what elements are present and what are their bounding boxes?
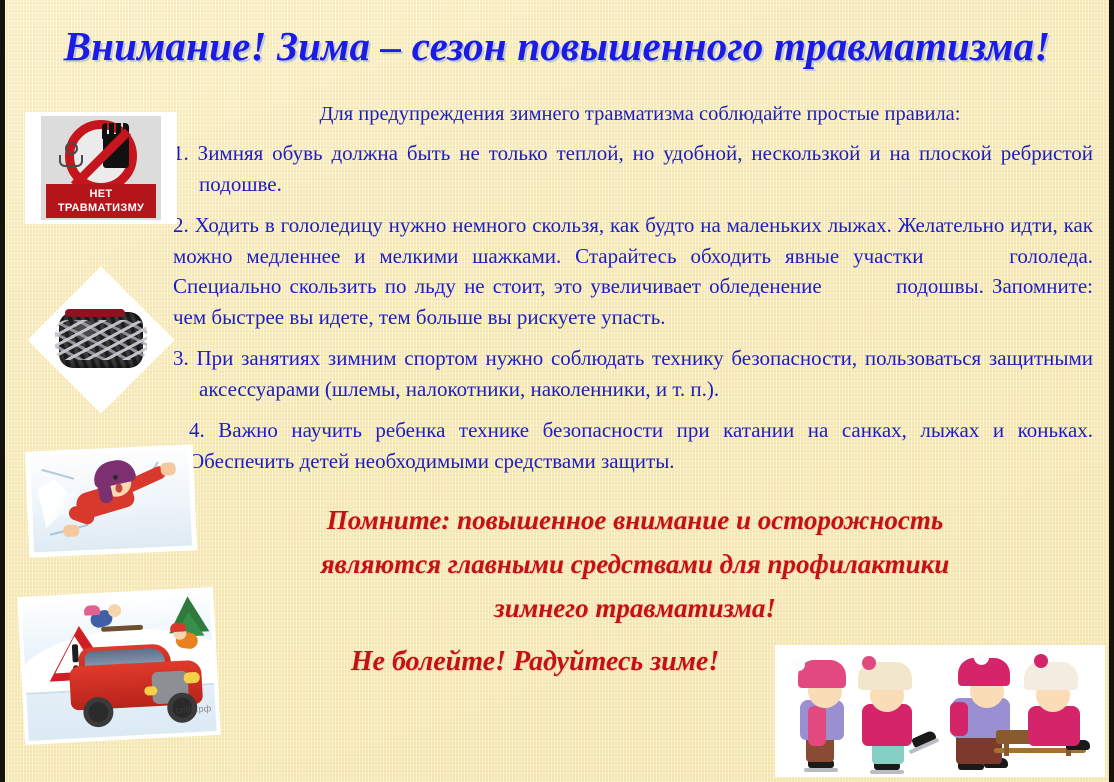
closing-line-2: являются главными средствами для профила… — [185, 542, 1085, 586]
child-hand — [160, 462, 176, 476]
child-1-scarf — [808, 706, 826, 746]
child-4-coat — [1028, 706, 1080, 746]
car-photo-watermark: сп96.рф — [175, 703, 211, 715]
child-3-scarf — [950, 702, 968, 736]
text-content-column: Для предупреждения зимнего травматизма с… — [173, 100, 1093, 487]
rule-1-text: Зимняя обувь должна быть не только тепло… — [198, 141, 1093, 196]
child-4-hat — [1024, 662, 1078, 690]
winter-children-scene — [778, 648, 1102, 774]
snow-chains-photo — [27, 266, 174, 413]
child-1-pompom — [792, 658, 805, 671]
closing-line-1: Помните: повышенное внимание и осторожно… — [185, 498, 1085, 542]
rule-4-number: 4. — [189, 418, 205, 442]
sign-label-line-1: НЕТ — [46, 187, 156, 201]
slipping-child-scene — [30, 450, 192, 553]
child-3-pompom — [974, 650, 989, 665]
sign-label-line-2: ТРАВМАТИЗМУ — [46, 201, 156, 215]
rule-3-number: 3. — [173, 346, 189, 370]
car-headlight — [183, 672, 200, 684]
rule-item-2: 2. Ходить в гололедицу нужно немного ско… — [173, 210, 1093, 332]
rule-item-3: 3. При занятиях зимним спортом нужно соб… — [173, 343, 1093, 404]
rule-3-text: При занятиях зимним спортом нужно соблюд… — [196, 346, 1093, 401]
title-band: Внимание! Зима – сезон повышенного травм… — [5, 22, 1109, 70]
car-foglight — [144, 686, 157, 696]
ice-streak-icon — [41, 469, 74, 480]
person-icon — [57, 142, 87, 168]
intro-text: Для предупреждения зимнего травматизма с… — [173, 100, 1093, 128]
person-body-icon — [59, 155, 83, 167]
prohibition-sign-photo: http://fil...s.tiu.ru НЕТ ТРАВМАТИЗМУ — [25, 112, 177, 224]
car-sledding-warning-photo: сп96.рф — [17, 587, 220, 745]
child-4-pompom — [1034, 654, 1048, 668]
child-2-skate-blade — [870, 770, 904, 774]
closing-line-3: зимнего травматизма! — [185, 586, 1085, 630]
rule-item-1: 1. Зимняя обувь должна быть не только те… — [173, 138, 1093, 199]
sled-leg-left — [1004, 744, 1009, 756]
sign-label: НЕТ ТРАВМАТИЗМУ — [46, 184, 156, 218]
winter-safety-poster: Внимание! Зима – сезон повышенного травм… — [0, 0, 1114, 782]
rule-2-text-a: Ходить в гололедицу нужно немного скольз… — [173, 213, 1093, 268]
person-head-icon — [65, 142, 78, 155]
snow-chains-scene — [49, 288, 153, 392]
child-1-hat — [798, 660, 846, 688]
rule-4-text: Важно научить ребенка технике безопаснос… — [189, 418, 1093, 473]
rule-item-4: 4. Важно научить ребенка технике безопас… — [173, 415, 1093, 476]
chain-grip-icon — [59, 312, 143, 368]
slipping-child-photo — [25, 444, 197, 557]
car-rear-wheel — [83, 696, 115, 728]
car-sledding-scene: сп96.рф — [21, 591, 216, 741]
child-1-skate-blade — [804, 768, 838, 772]
sign-face: http://fil...s.tiu.ru НЕТ ТРАВМАТИЗМУ — [41, 116, 161, 220]
child-foot — [63, 524, 80, 537]
sledding-child-b-hat — [170, 622, 186, 632]
winter-children-photo — [775, 645, 1105, 777]
sledding-child-a-hat — [84, 605, 101, 616]
page-title: Внимание! Зима – сезон повышенного травм… — [64, 22, 1051, 70]
sledding-child-a-head — [108, 604, 122, 618]
child-2-pompom — [862, 656, 876, 670]
